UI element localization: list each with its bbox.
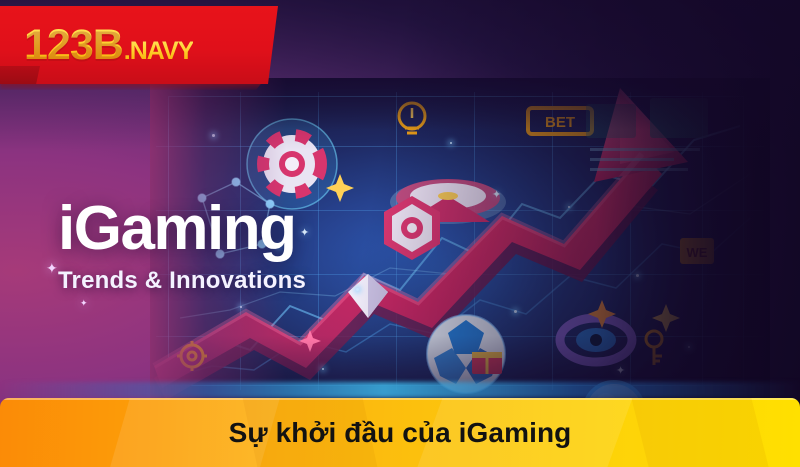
logo-suffix-text: .NAVY <box>124 39 194 64</box>
caption-banner: Sự khởi đầu của iGaming <box>0 398 800 467</box>
headline-block: iGaming Trends & Innovations ✦ ✦ <box>58 200 388 295</box>
page-title: iGaming <box>58 200 388 259</box>
sparkle-icon: ✦ <box>80 298 88 309</box>
logo-text: 123B .NAVY <box>24 24 193 67</box>
ribbon-shape: 123B .NAVY <box>0 6 282 84</box>
promo-banner-image: BET WE <box>0 0 800 467</box>
sparkle-icon: ✦ <box>46 260 58 277</box>
page-subtitle: Trends & Innovations <box>58 267 388 295</box>
banner-caption: Sự khởi đầu của iGaming <box>0 398 800 467</box>
horizon-glow <box>0 382 800 398</box>
logo-main-text: 123B <box>24 24 123 67</box>
